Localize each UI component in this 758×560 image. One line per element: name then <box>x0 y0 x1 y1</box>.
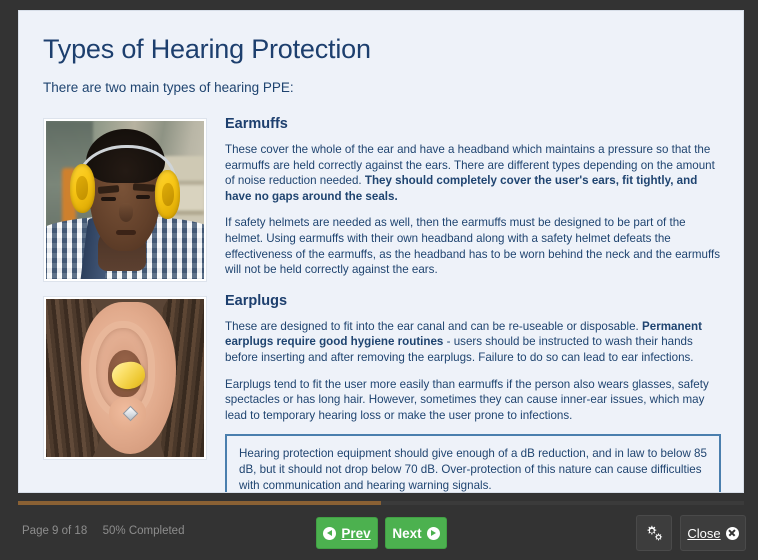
prev-button-label: Prev <box>341 526 370 541</box>
completion-label: 50% Completed <box>103 525 185 537</box>
settings-button[interactable] <box>636 515 672 551</box>
next-button[interactable]: Next <box>385 517 447 549</box>
next-button-label: Next <box>392 526 421 541</box>
control-bar: Page 9 of 18 50% Completed Prev Next <box>0 507 758 560</box>
section-heading-earplugs: Earplugs <box>225 292 721 310</box>
section-heading-earmuffs: Earmuffs <box>225 115 721 133</box>
text-column: Earmuffs These cover the whole of the ea… <box>225 115 721 493</box>
progress-track <box>18 501 744 505</box>
earplug-photo-frame <box>43 296 207 460</box>
close-button-label: Close <box>687 526 720 541</box>
photo-earmuff-cushion <box>76 176 88 200</box>
prev-button[interactable]: Prev <box>316 517 378 549</box>
circle-x-icon <box>726 527 739 540</box>
slide-panel: Types of Hearing Protection There are tw… <box>18 10 744 493</box>
photo-nose <box>119 203 133 222</box>
earmuffs-paragraph-2: If safety helmets are needed as well, th… <box>225 215 721 277</box>
photo-eye-right <box>136 195 150 199</box>
page-subtitle: There are two main types of hearing PPE: <box>43 79 721 97</box>
close-button[interactable]: Close <box>680 515 746 551</box>
course-player: Types of Hearing Protection There are tw… <box>0 0 758 560</box>
circle-arrow-left-icon <box>323 527 336 540</box>
page-number-label: Page 9 of 18 <box>22 525 87 537</box>
earplugs-paragraph-1: These are designed to fit into the ear c… <box>225 319 721 366</box>
photo-earmuff-cushion <box>162 183 174 207</box>
page-title: Types of Hearing Protection <box>43 33 721 65</box>
photo-earmuff-left <box>70 164 95 213</box>
earplugs-paragraph-2: Earplugs tend to fit the user more easil… <box>225 377 721 424</box>
earmuffs-photo <box>46 121 204 279</box>
earmuffs-photo-frame <box>43 118 207 282</box>
slide-body: Earmuffs These cover the whole of the ea… <box>43 115 721 493</box>
gears-icon <box>643 523 665 543</box>
earplug-photo <box>46 299 204 457</box>
callout-box: Hearing protection equipment should give… <box>225 434 721 493</box>
circle-arrow-right-icon <box>427 527 440 540</box>
earmuffs-paragraph-1: These cover the whole of the ear and hav… <box>225 142 721 204</box>
callout-text: Hearing protection equipment should give… <box>239 446 707 493</box>
photo-eye-left <box>101 197 115 201</box>
image-column <box>43 115 207 474</box>
page-status: Page 9 of 18 50% Completed <box>22 525 184 537</box>
photo-earmuff-right <box>155 170 180 219</box>
progress-fill <box>18 501 381 505</box>
slide-content: Types of Hearing Protection There are tw… <box>19 11 744 493</box>
photo-mouth <box>116 230 137 235</box>
